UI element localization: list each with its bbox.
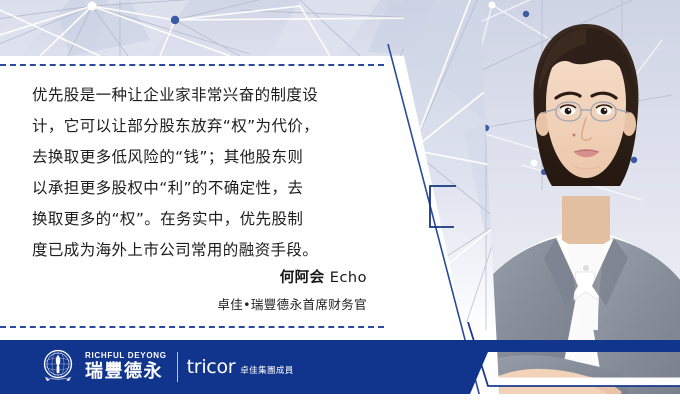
crest-emblem-icon [38, 347, 78, 387]
attribution-name-en: Echo [330, 270, 367, 286]
dashed-rule-bottom [0, 326, 384, 328]
brand-name-cn: 瑞豐德永 [85, 361, 167, 383]
attribution-name-cn: 何阿会 [280, 270, 325, 286]
quote-line: 度已成为海外上市公司常用的融资手段。 [32, 235, 382, 266]
vertical-divider-icon [177, 352, 178, 382]
quote-line: 优先股是一种让企业家非常兴奋的制度设 [32, 80, 382, 111]
partner-name: tricor [187, 356, 236, 378]
attribution-role: 卓佳•瑞豐德永首席财务官 [0, 294, 367, 313]
quote-text: 优先股是一种让企业家非常兴奋的制度设 计，它可以让部分股东放弃“权”为代价， 去… [32, 80, 382, 266]
quote-card: 优先股是一种让企业家非常兴奋的制度设 计，它可以让部分股东放弃“权”为代价， 去… [0, 0, 680, 405]
quote-line: 以承担更多股权中“利”的不确定性，去 [32, 173, 382, 204]
attribution-name: 何阿会 Echo [0, 266, 367, 287]
footer-bar: RICHFUL DEYONG 瑞豐德永 tricor 卓佳集團成員 [0, 340, 680, 405]
partner-name-cn: 卓佳集團成員 [240, 364, 293, 376]
quote-line: 去换取更多低风险的“钱”；其他股东则 [32, 142, 382, 173]
quote-line: 计，它可以让部分股东放弃“权”为代价， [32, 111, 382, 142]
partner-lockup: tricor 卓佳集團成員 [187, 356, 294, 378]
dashed-rule-top [0, 64, 384, 66]
attribution: 何阿会 Echo 卓佳•瑞豐德永首席财务官 [0, 266, 367, 313]
footer-brand-lockup: RICHFUL DEYONG 瑞豐德永 tricor 卓佳集團成員 [38, 346, 294, 388]
brand-text: RICHFUL DEYONG 瑞豐德永 [85, 351, 167, 383]
quote-line: 换取更多的“权”。在务实中，优先股制 [32, 204, 382, 235]
brand-name-en: RICHFUL DEYONG [85, 351, 167, 361]
